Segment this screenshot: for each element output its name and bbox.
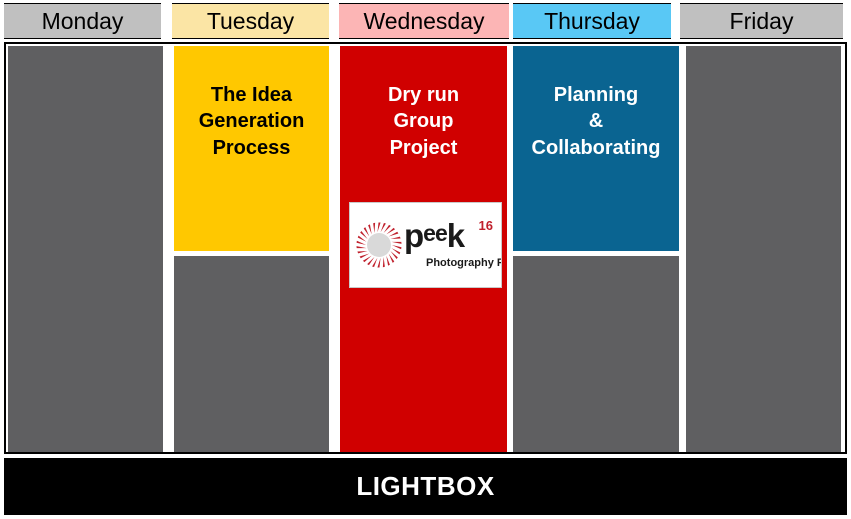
peek-letter-p: p [404, 217, 423, 254]
empty-slot-thursday-0[interactable] [513, 256, 679, 452]
peek-letter-k: k [447, 217, 464, 254]
peek-letters-ee: ee [423, 220, 447, 246]
lightbox-footer-bar[interactable]: LIGHTBOX [4, 458, 847, 515]
weekly-planner-board: MondayTuesdayWednesdayThursdayFriday The… [0, 0, 851, 519]
day-column-monday [8, 44, 163, 452]
day-column-friday [686, 44, 841, 452]
day-header-wednesday[interactable]: Wednesday [339, 3, 509, 39]
session-card-tuesday[interactable]: The Idea Generation Process [174, 46, 329, 251]
lightbox-label: LIGHTBOX [356, 471, 494, 502]
day-header-monday[interactable]: Monday [4, 3, 161, 39]
planner-board-body: The Idea Generation ProcessDry run Group… [4, 42, 847, 454]
session-card-title: Dry run Group Project [382, 82, 465, 161]
day-header-tuesday[interactable]: Tuesday [172, 3, 329, 39]
session-card-thursday[interactable]: Planning & Collaborating [513, 46, 679, 251]
header-gutter [161, 3, 172, 39]
session-card-title: Planning & Collaborating [526, 82, 667, 161]
day-header-friday[interactable]: Friday [680, 3, 843, 39]
header-gutter [843, 3, 851, 39]
empty-slot-friday-0[interactable] [686, 46, 841, 452]
header-gutter [329, 3, 339, 39]
peek-logo-card[interactable]: peek 16 Photography Festival [349, 202, 502, 288]
peek-year-badge: 16 [479, 219, 493, 232]
peek-wordmark: peek [404, 219, 464, 252]
peek-subtitle: Photography Festival [426, 257, 502, 269]
sunburst-icon [356, 222, 402, 268]
session-card-title: The Idea Generation Process [193, 82, 311, 161]
empty-slot-monday-0[interactable] [8, 46, 163, 452]
day-column-thursday: Planning & Collaborating [513, 44, 679, 452]
day-column-tuesday: The Idea Generation Process [174, 44, 329, 452]
peek-logo-text: peek 16 Photography Festival [404, 217, 495, 273]
empty-slot-tuesday-0[interactable] [174, 256, 329, 452]
day-header-thursday[interactable]: Thursday [513, 3, 671, 39]
header-gutter [671, 3, 680, 39]
weekday-header-row: MondayTuesdayWednesdayThursdayFriday [0, 3, 851, 39]
